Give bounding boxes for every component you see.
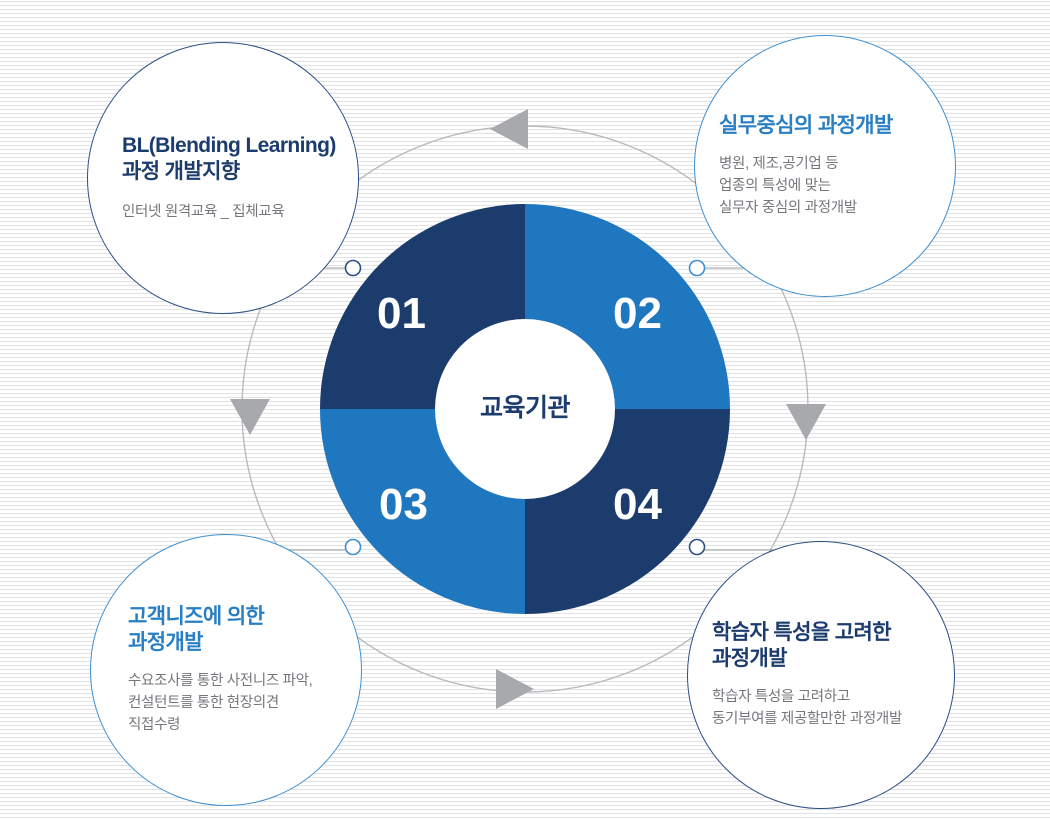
info-bubble-01-body: 인터넷 원격교육 _ 집체교육: [122, 201, 358, 223]
info-bubble-01[interactable]: BL(Blending Learning) 과정 개발지향 인터넷 원격교육 _…: [87, 42, 359, 314]
info-bubble-04[interactable]: 학습자 특성을 고려한 과정개발 학습자 특성을 고려하고 동기부여를 제공할만…: [687, 541, 955, 809]
connector-node-02: [690, 261, 705, 276]
quadrant-number-03: 03: [379, 483, 428, 527]
info-bubble-01-title: BL(Blending Learning) 과정 개발지향: [122, 133, 358, 186]
info-bubble-04-body: 학습자 특성을 고려하고 동기부여를 제공할만한 과정개발: [712, 686, 954, 730]
info-bubble-02-title: 실무중심의 과정개발: [719, 113, 955, 139]
connector-node-01: [346, 261, 361, 276]
info-bubble-02-body: 병원, 제조,공기업 등 업종의 특성에 맞는 실무자 중심의 과정개발: [719, 153, 955, 219]
quadrant-number-02: 02: [613, 292, 662, 336]
connector-node-04: [690, 540, 705, 555]
info-bubble-02[interactable]: 실무중심의 과정개발 병원, 제조,공기업 등 업종의 특성에 맞는 실무자 중…: [694, 35, 956, 297]
connector-node-03: [346, 540, 361, 555]
info-bubble-03-title: 고객니즈에 의한 과정개발: [128, 604, 361, 657]
hub-label: 교육기관: [435, 388, 615, 424]
info-bubble-04-title: 학습자 특성을 고려한 과정개발: [712, 620, 954, 673]
quadrant-number-04: 04: [613, 483, 662, 527]
info-bubble-03[interactable]: 고객니즈에 의한 과정개발 수요조사를 통한 사전니즈 파악, 컨설턴트를 통한…: [90, 534, 362, 806]
quadrant-number-01: 01: [377, 292, 426, 336]
info-bubble-03-body: 수요조사를 통한 사전니즈 파악, 컨설턴트를 통한 현장의견 직접수령: [128, 670, 361, 736]
diagram-canvas: 01 02 03 04 교육기관 BL(Blending Learning) 과…: [0, 0, 1050, 819]
